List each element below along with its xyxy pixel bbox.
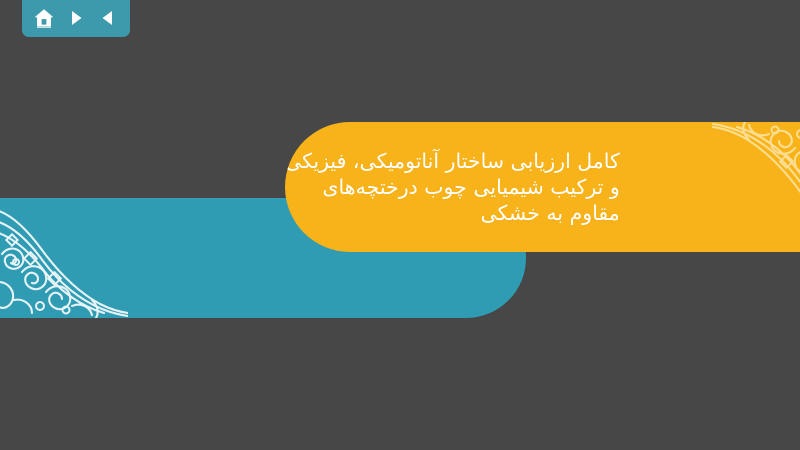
page-title: کامل ارزیابی ساختار آناتومیکی، فیزیکی و …: [285, 148, 620, 227]
title-banner: کامل ارزیابی ساختار آناتومیکی، فیزیکی و …: [285, 122, 800, 252]
navigation-bar: [22, 0, 130, 37]
title-line-2: و ترکیب شیمیایی چوب درختچه‌های: [285, 174, 620, 200]
home-icon: [33, 7, 55, 29]
previous-button[interactable]: [95, 5, 121, 31]
slide-canvas: کامل ارزیابی ساختار آناتومیکی، فیزیکی و …: [0, 0, 800, 450]
arabesque-ornament-teal: [0, 198, 128, 318]
arabesque-ornament-orange: [695, 122, 800, 244]
home-button[interactable]: [31, 5, 57, 31]
triangle-right-icon: [66, 8, 86, 28]
title-line-1: کامل ارزیابی ساختار آناتومیکی، فیزیکی: [285, 148, 620, 174]
triangle-left-icon: [98, 8, 118, 28]
title-line-3: مقاوم به خشکی: [285, 200, 620, 226]
next-button[interactable]: [63, 5, 89, 31]
